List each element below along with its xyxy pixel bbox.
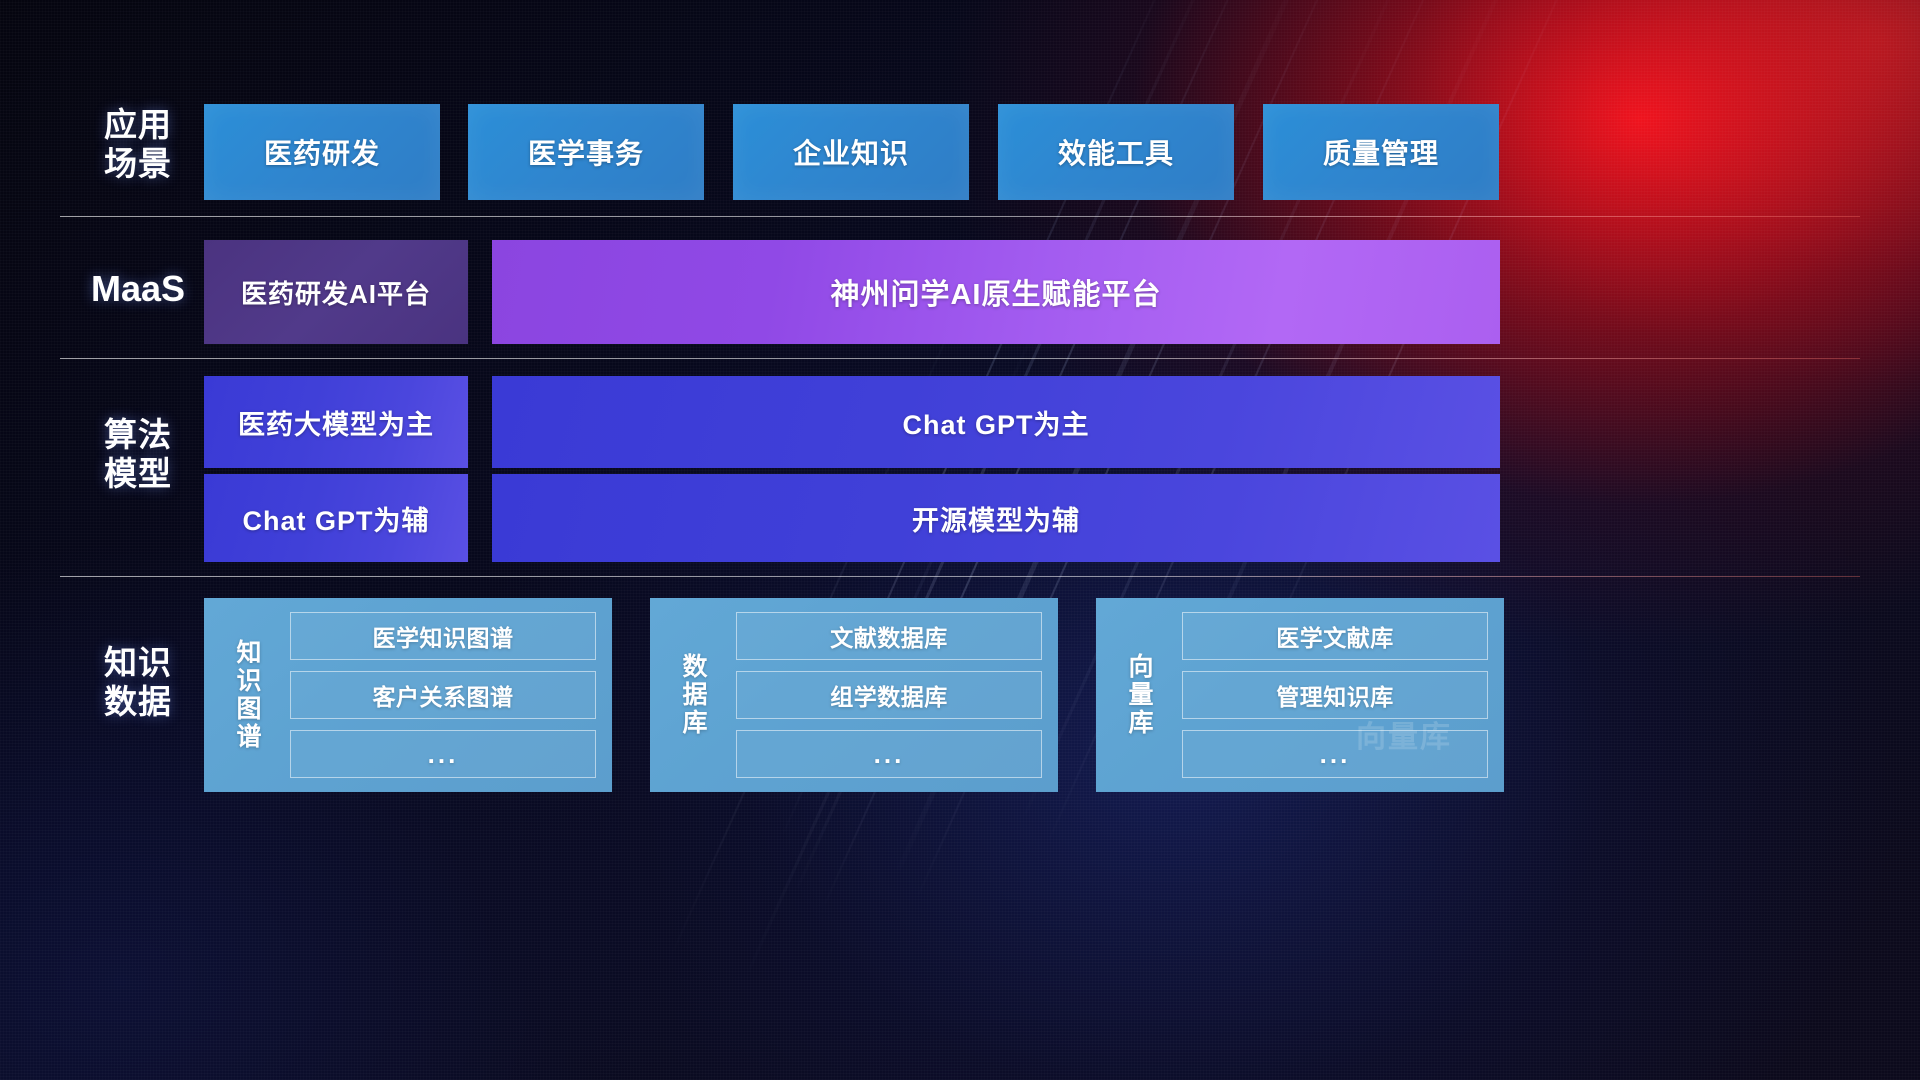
knowledge-item-2-2[interactable]: ... [1182, 730, 1488, 778]
row-label-knowledge-line1: 知识 [78, 644, 198, 683]
divider-applications-maas [60, 216, 1860, 217]
knowledge-panel-1-vlabel-char-0: 数 [682, 653, 707, 681]
algorithm-box-primary-left[interactable]: 医药大模型为主 [204, 376, 468, 468]
divider-maas-algorithm [60, 358, 1860, 359]
maas-platform-box-left[interactable]: 医药研发AI平台 [204, 240, 468, 344]
knowledge-panel-2-vertical-label: 向 量 库 [1112, 612, 1170, 778]
row-label-maas-text: MaaS [78, 268, 198, 310]
app-box-3[interactable]: 效能工具 [998, 104, 1234, 200]
maas-platform-box-right[interactable]: 神州问学AI原生赋能平台 [492, 240, 1500, 344]
knowledge-item-1-0[interactable]: 文献数据库 [736, 612, 1042, 660]
row-label-applications-line1: 应用 [78, 106, 198, 145]
app-box-3-label: 效能工具 [1058, 132, 1174, 172]
row-label-applications-line2: 场景 [78, 145, 198, 184]
app-box-4[interactable]: 质量管理 [1263, 104, 1499, 200]
app-box-1[interactable]: 医学事务 [468, 104, 704, 200]
knowledge-panel-0-vlabel-char-0: 知 [236, 639, 261, 667]
row-label-applications: 应用 场景 [78, 106, 198, 184]
knowledge-panel-1-vlabel-char-1: 据 [682, 681, 707, 709]
knowledge-panel-1-items: 文献数据库 组学数据库 ... [724, 612, 1042, 778]
app-box-0-label: 医药研发 [264, 132, 380, 172]
row-label-algorithm-line1: 算法 [78, 416, 198, 455]
knowledge-item-2-1[interactable]: 管理知识库 [1182, 671, 1488, 719]
knowledge-item-2-0[interactable]: 医学文献库 [1182, 612, 1488, 660]
knowledge-item-0-1[interactable]: 客户关系图谱 [290, 671, 596, 719]
app-box-1-label: 医学事务 [528, 132, 644, 172]
knowledge-panel-0-vertical-label: 知 识 图 谱 [220, 612, 278, 778]
maas-platform-box-left-label: 医药研发AI平台 [241, 274, 431, 311]
knowledge-item-0-2[interactable]: ... [290, 730, 596, 778]
knowledge-panel-1-vertical-label: 数 据 库 [666, 612, 724, 778]
divider-algorithm-knowledge [60, 576, 1860, 577]
knowledge-panel-0-items: 医学知识图谱 客户关系图谱 ... [278, 612, 596, 778]
app-box-0[interactable]: 医药研发 [204, 104, 440, 200]
knowledge-item-1-2[interactable]: ... [736, 730, 1042, 778]
knowledge-item-0-0[interactable]: 医学知识图谱 [290, 612, 596, 660]
knowledge-panel-0-vlabel-char-2: 图 [236, 695, 261, 723]
app-box-4-label: 质量管理 [1323, 132, 1439, 172]
knowledge-panel-1-vlabel-char-2: 库 [682, 709, 707, 737]
row-label-algorithm-line2: 模型 [78, 455, 198, 494]
knowledge-panel-2-vlabel-char-2: 库 [1128, 709, 1153, 737]
algorithm-box-secondary-right-label: 开源模型为辅 [912, 499, 1080, 538]
knowledge-panel-0-vlabel-char-3: 谱 [236, 723, 261, 751]
algorithm-box-secondary-right[interactable]: 开源模型为辅 [492, 474, 1500, 562]
row-label-knowledge-line2: 数据 [78, 683, 198, 722]
knowledge-panel-database[interactable]: 数 据 库 文献数据库 组学数据库 ... [650, 598, 1058, 792]
row-label-knowledge: 知识 数据 [78, 644, 198, 722]
app-box-2-label: 企业知识 [793, 132, 909, 172]
knowledge-panel-2-vlabel-char-1: 量 [1128, 681, 1153, 709]
knowledge-panel-knowledge-graph[interactable]: 知 识 图 谱 医学知识图谱 客户关系图谱 ... [204, 598, 612, 792]
diagram-canvas: 应用 场景 医药研发 医学事务 企业知识 效能工具 质量管理 MaaS 医药研发… [0, 0, 1920, 1080]
row-label-algorithm: 算法 模型 [78, 416, 198, 494]
knowledge-panel-0-vlabel-char-1: 识 [236, 667, 261, 695]
app-box-2[interactable]: 企业知识 [733, 104, 969, 200]
algorithm-box-secondary-left[interactable]: Chat GPT为辅 [204, 474, 468, 562]
maas-platform-box-right-label: 神州问学AI原生赋能平台 [830, 271, 1161, 313]
knowledge-panel-2-items: 医学文献库 管理知识库 ... [1170, 612, 1488, 778]
knowledge-panel-vector-store[interactable]: 向 量 库 医学文献库 管理知识库 ... 向量库 [1096, 598, 1504, 792]
row-label-maas: MaaS [78, 268, 198, 310]
algorithm-box-primary-right[interactable]: Chat GPT为主 [492, 376, 1500, 468]
algorithm-box-primary-right-label: Chat GPT为主 [902, 403, 1089, 442]
knowledge-item-1-1[interactable]: 组学数据库 [736, 671, 1042, 719]
algorithm-box-secondary-left-label: Chat GPT为辅 [242, 499, 429, 538]
knowledge-panel-2-vlabel-char-0: 向 [1128, 653, 1153, 681]
algorithm-box-primary-left-label: 医药大模型为主 [238, 403, 434, 442]
